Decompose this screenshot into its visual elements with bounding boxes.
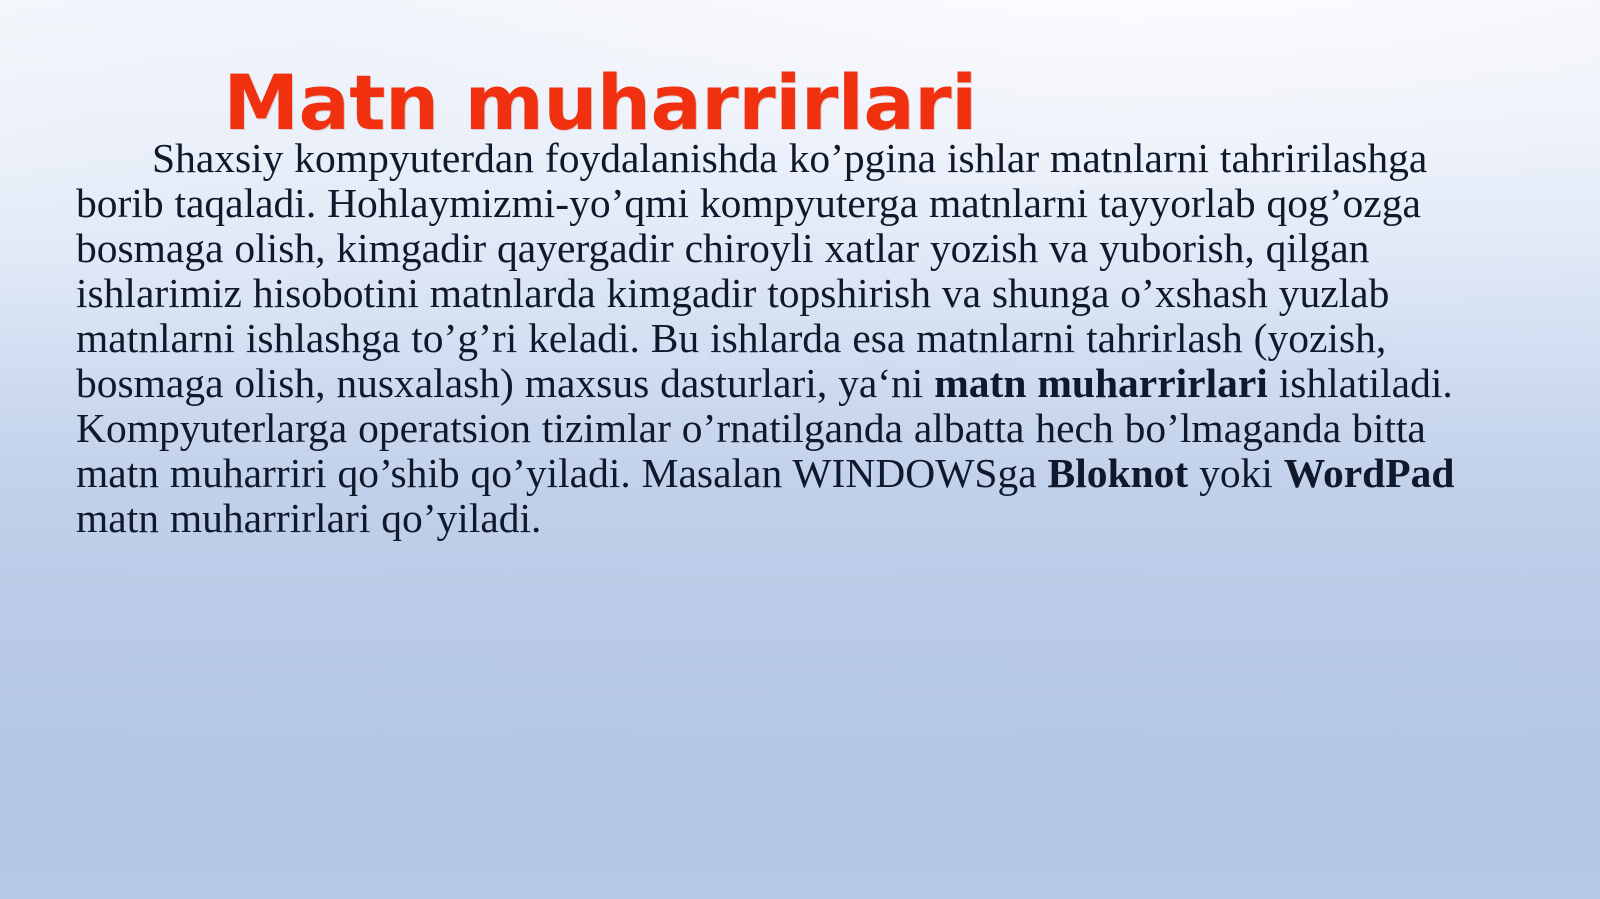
presentation-slide: Matn muharrirlari Shaxsiy kompyuterdan f… [0, 0, 1600, 899]
slide-body-paragraph: Shaxsiy kompyuterdan foydalanishda ko’pg… [76, 136, 1516, 541]
paragraph-run: matn muharrirlari qo’yiladi. [76, 495, 541, 541]
emphasized-term: WordPad [1284, 450, 1455, 496]
emphasized-term: Bloknot [1048, 450, 1189, 496]
emphasized-term: matn muharrirlari [934, 360, 1268, 406]
paragraph-run: yoki [1188, 450, 1284, 496]
